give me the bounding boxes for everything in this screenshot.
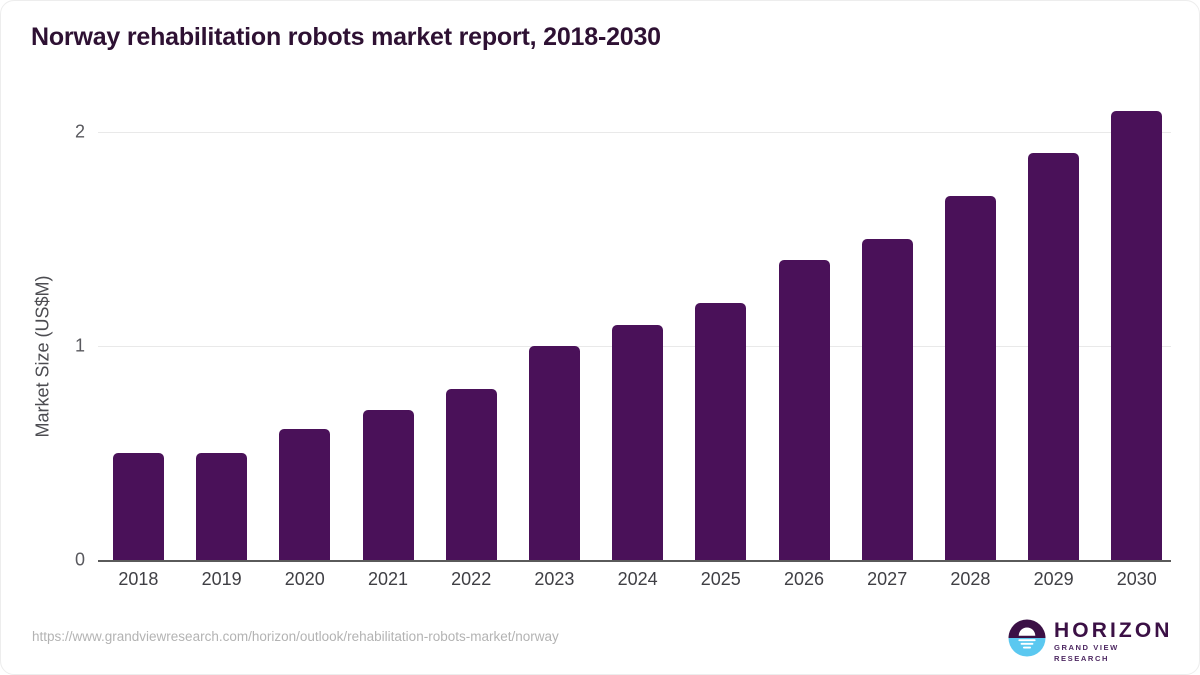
bar[interactable] bbox=[279, 429, 330, 560]
bar[interactable] bbox=[1111, 111, 1162, 560]
x-axis-tick-label: 2019 bbox=[180, 569, 263, 590]
bar[interactable] bbox=[196, 453, 247, 560]
x-axis-tick-label: 2024 bbox=[596, 569, 679, 590]
y-axis-tick-label: 2 bbox=[41, 122, 85, 143]
bar[interactable] bbox=[945, 196, 996, 560]
y-axis-tick-label: 0 bbox=[41, 550, 85, 571]
horizon-sun-logo-icon bbox=[1008, 619, 1046, 657]
x-axis-tick-label: 2018 bbox=[97, 569, 180, 590]
x-axis-tick-label: 2029 bbox=[1012, 569, 1095, 590]
brand-logo[interactable]: HORIZON GRAND VIEW RESEARCH bbox=[1008, 618, 1173, 658]
x-axis-tick-label: 2020 bbox=[263, 569, 346, 590]
gridline bbox=[98, 132, 1171, 133]
x-axis-line bbox=[98, 560, 1171, 562]
brand-logo-text: HORIZON GRAND VIEW RESEARCH bbox=[1054, 620, 1174, 664]
bar[interactable] bbox=[779, 260, 830, 560]
bar[interactable] bbox=[113, 453, 164, 560]
bar[interactable] bbox=[612, 325, 663, 560]
bar[interactable] bbox=[695, 303, 746, 560]
bar[interactable] bbox=[862, 239, 913, 560]
bar[interactable] bbox=[363, 410, 414, 560]
x-axis-tick-label: 2027 bbox=[846, 569, 929, 590]
chart-figure: Norway rehabilitation robots market repo… bbox=[0, 0, 1200, 675]
bar[interactable] bbox=[529, 346, 580, 560]
bar[interactable] bbox=[1028, 153, 1079, 560]
x-axis-tick-label: 2028 bbox=[929, 569, 1012, 590]
brand-name: HORIZON bbox=[1054, 620, 1174, 642]
x-axis-tick-label: 2021 bbox=[347, 569, 430, 590]
x-axis-tick-label: 2023 bbox=[513, 569, 596, 590]
bar-chart-plot-area: 012 Market Size (US$M) 20182019202020212… bbox=[1, 1, 1200, 675]
x-axis-tick-label: 2022 bbox=[430, 569, 513, 590]
x-axis-tick-label: 2026 bbox=[763, 569, 846, 590]
x-axis-tick-label: 2030 bbox=[1095, 569, 1178, 590]
x-axis-tick-label: 2025 bbox=[679, 569, 762, 590]
y-axis-label: Market Size (US$M) bbox=[33, 247, 54, 467]
bar[interactable] bbox=[446, 389, 497, 560]
source-url[interactable]: https://www.grandviewresearch.com/horizo… bbox=[32, 629, 559, 644]
brand-tagline: GRAND VIEW RESEARCH bbox=[1054, 642, 1174, 664]
